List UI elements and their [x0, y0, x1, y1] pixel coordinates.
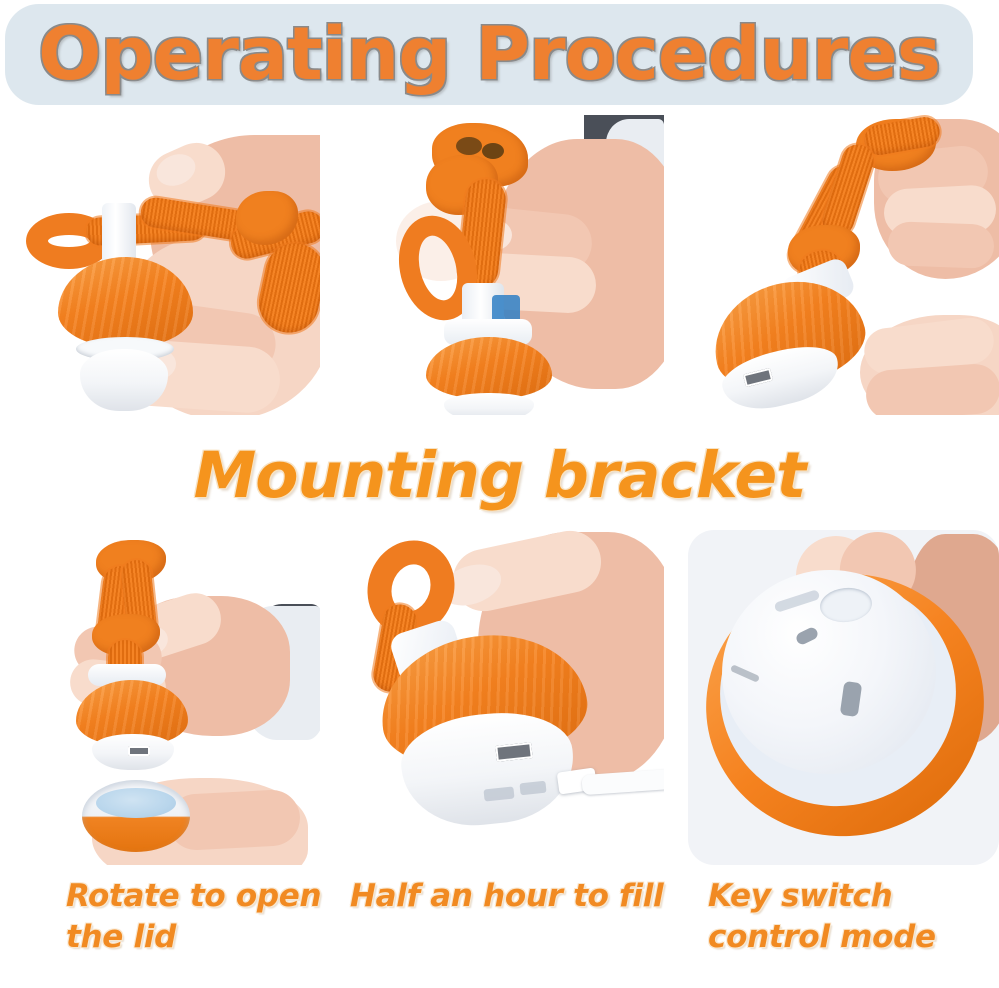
usb-port-icon — [128, 746, 150, 756]
device-white-base — [80, 349, 168, 411]
product-photo-key-switch — [688, 530, 999, 865]
panel-attach-rope — [0, 115, 320, 415]
caption-rotate-lid-line1: Rotate to open — [66, 876, 330, 917]
panel-charge-usb — [344, 530, 664, 865]
finger-shape — [864, 362, 999, 415]
device-white-base — [444, 393, 534, 415]
product-photo-tie-knot — [344, 115, 664, 415]
caption-rotate-lid-line2: the lid — [66, 917, 330, 958]
product-photo-attach-rope — [0, 115, 320, 415]
caption-key-switch-line1: Key switch — [708, 876, 999, 917]
panel-key-switch — [688, 530, 999, 865]
rope-shadow — [482, 143, 504, 159]
caption-key-switch: Key switch control mode — [670, 868, 999, 988]
panel-open-lid — [0, 530, 320, 865]
caption-fill-time: Half an hour to fill — [330, 868, 670, 988]
caption-fill-time-line1: Half an hour to fill — [350, 876, 670, 917]
rope-shadow — [456, 137, 482, 155]
caption-row: Rotate to open the lid Half an hour to f… — [0, 868, 999, 988]
mounting-bracket-text: Mounting bracket — [194, 439, 806, 512]
caption-rotate-lid: Rotate to open the lid — [0, 868, 330, 988]
caption-key-switch-line2: control mode — [708, 917, 999, 958]
product-photo-hang-device — [688, 115, 999, 415]
panel-hang-device — [688, 115, 999, 415]
title-banner: Operating Procedures — [5, 4, 973, 105]
page-title: Operating Procedures — [38, 18, 940, 91]
finger-shape — [887, 221, 994, 269]
mounting-bracket-headline: Mounting bracket — [0, 425, 999, 525]
product-photo-charge-usb — [344, 530, 664, 865]
product-photo-open-lid — [0, 530, 320, 865]
lid-inner-seal — [96, 788, 176, 818]
photo-row-top — [0, 115, 999, 415]
panel-tie-knot — [344, 115, 664, 415]
photo-row-bottom — [0, 530, 999, 865]
